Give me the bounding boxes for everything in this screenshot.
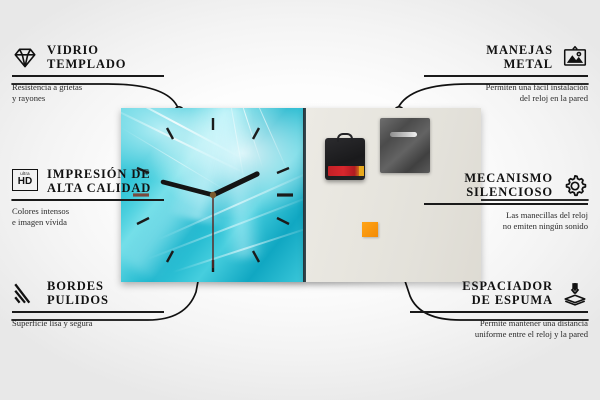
divider xyxy=(12,311,164,313)
feature-title: MECANISMO SILENCIOSO xyxy=(464,172,553,199)
minute-hand xyxy=(163,182,213,195)
foam-spacer-icon xyxy=(562,281,588,307)
picture-hanger-icon xyxy=(562,45,588,71)
feature-title: ESPACIADOR DE ESPUMA xyxy=(462,280,553,307)
divider xyxy=(410,311,588,313)
feature-description: Superficie lisa y segura xyxy=(12,318,164,329)
quartz-mechanism xyxy=(325,138,365,180)
hand-cap xyxy=(210,192,216,198)
feature-title: IMPRESIÓN DE ALTA CALIDAD xyxy=(47,168,151,195)
feature-impresion-alta-calidad: ultra HD IMPRESIÓN DE ALTA CALIDAD Color… xyxy=(12,168,164,228)
feature-bordes-pulidos: BORDES PULIDOS Superficie lisa y segura xyxy=(12,280,164,329)
mechanism-hook xyxy=(337,133,353,142)
polished-edges-icon xyxy=(12,281,38,307)
feature-mecanismo-silencioso: MECANISMO SILENCIOSO Las manecillas del … xyxy=(424,172,588,232)
feature-description: Colores intensos e imagen vívida xyxy=(12,206,164,228)
feature-title: BORDES PULIDOS xyxy=(47,280,109,307)
hanger-slot xyxy=(390,132,417,137)
hd-label: HD xyxy=(18,177,32,187)
feature-description: Permite mantener una distancia uniforme … xyxy=(410,318,588,340)
divider xyxy=(12,75,164,77)
feature-manejas-metal: MANEJAS METAL Permiten una fácil instala… xyxy=(424,44,588,104)
feature-description: Resistencia a grietas y rayones xyxy=(12,82,164,104)
feature-description: Las manecillas del reloj no emiten ningú… xyxy=(424,210,588,232)
hour-hand xyxy=(213,174,257,195)
battery xyxy=(328,166,362,176)
divider xyxy=(12,199,164,201)
feature-espaciador-espuma: ESPACIADOR DE ESPUMA Permite mantener un… xyxy=(410,280,588,340)
feature-title: VIDRIO TEMPLADO xyxy=(47,44,126,71)
gear-icon xyxy=(562,173,588,199)
divider xyxy=(424,203,588,205)
ultra-hd-icon: ultra HD xyxy=(12,169,38,195)
metal-hanger-plate xyxy=(380,118,430,173)
feature-vidrio-templado: VIDRIO TEMPLADO Resistencia a grietas y … xyxy=(12,44,164,104)
diamond-icon xyxy=(12,45,38,71)
foam-spacer xyxy=(362,222,378,237)
feature-title: MANEJAS METAL xyxy=(486,44,553,71)
battery-terminal xyxy=(359,166,364,176)
feature-description: Permiten una fácil instalación del reloj… xyxy=(424,82,588,104)
divider xyxy=(424,75,588,77)
infographic-canvas: VIDRIO TEMPLADO Resistencia a grietas y … xyxy=(0,0,600,400)
